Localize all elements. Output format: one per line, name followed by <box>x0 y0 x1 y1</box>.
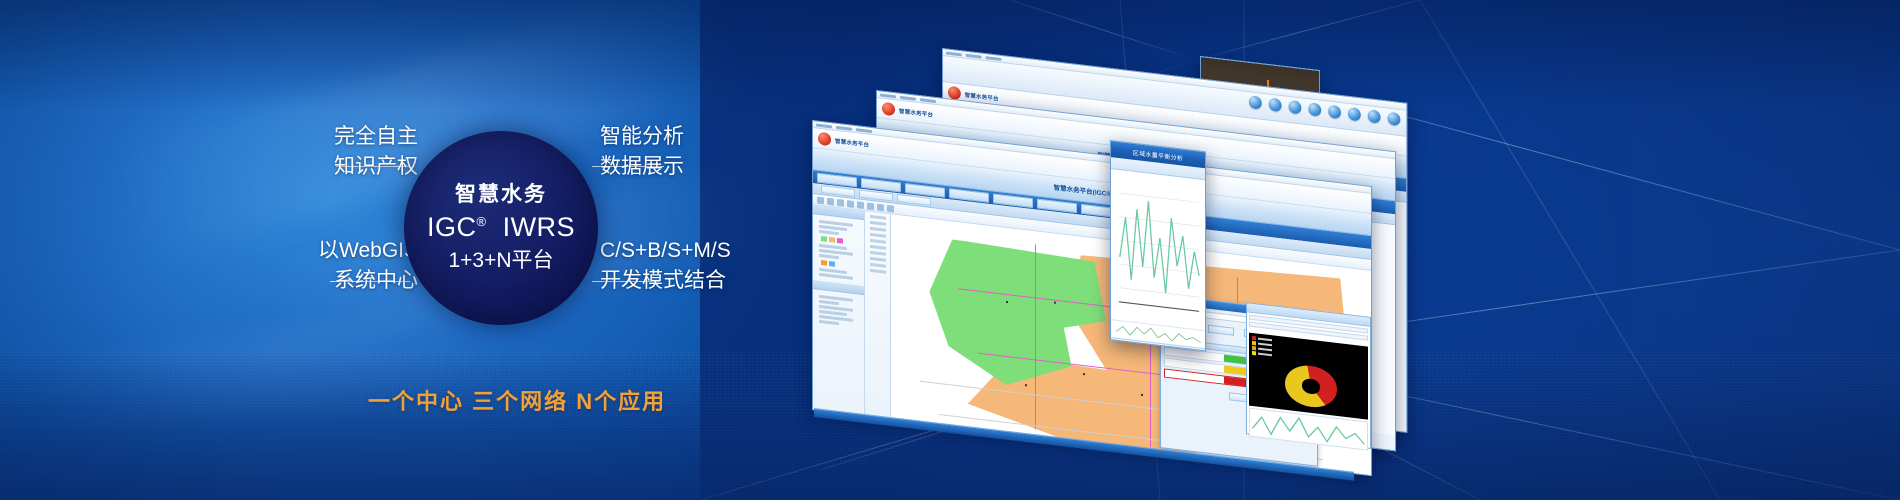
company-logo-icon <box>882 102 895 117</box>
legend-swatch <box>829 261 835 267</box>
donut-legend <box>1252 336 1272 358</box>
banner-stage: 完全自主 知识产权 以WebGIS 系统中心 智能分析 数据展示 C/S+B/S… <box>0 0 1900 500</box>
legend-swatch <box>821 260 827 266</box>
line-chart <box>1111 169 1205 330</box>
layer-item[interactable] <box>819 273 853 280</box>
tool-icon[interactable] <box>870 251 886 256</box>
hub-title: 智慧水务 <box>455 182 547 208</box>
feature-line1: 以WebGIS <box>318 239 418 262</box>
pan-tool-icon[interactable] <box>817 196 824 204</box>
layers-icon[interactable] <box>887 204 894 212</box>
menu-item[interactable] <box>946 51 962 56</box>
ribbon-icon[interactable] <box>1249 95 1262 110</box>
menu-item[interactable] <box>966 53 982 58</box>
tool-icon[interactable] <box>870 245 886 250</box>
feature-line1: 智能分析 <box>600 125 684 148</box>
tool-icon[interactable] <box>870 215 886 220</box>
feature-line2: 数据展示 <box>600 152 684 182</box>
feature-label-top-right: 智能分析 数据展示 <box>600 122 684 182</box>
query-button[interactable] <box>1208 325 1234 336</box>
attribute-row <box>819 320 839 325</box>
donut-ring <box>1285 363 1337 410</box>
hub-platform: 1+3+N平台 <box>448 247 553 274</box>
tool-icon[interactable] <box>870 257 886 262</box>
zoom-in-icon[interactable] <box>827 197 834 205</box>
menu-item[interactable] <box>836 125 852 130</box>
tool-icon[interactable] <box>870 263 886 268</box>
layer-tree[interactable] <box>813 214 864 286</box>
legend-swatch <box>821 236 827 242</box>
hub-circle: 智慧水务 IGC® IWRS 1+3+N平台 <box>404 131 598 325</box>
hub-product-name: IGC <box>427 212 477 242</box>
ribbon-icon[interactable] <box>1289 100 1302 115</box>
menu-item[interactable] <box>920 98 936 103</box>
brand-label: 智慧水务平台 <box>899 106 933 118</box>
layer-item[interactable] <box>819 230 839 235</box>
tool-sidebar[interactable] <box>865 211 891 434</box>
feature-line2: 系统中心 <box>290 266 418 296</box>
feature-label-bottom-right: C/S+B/S+M/S 开发模式结合 <box>600 236 731 296</box>
screenshot-stack: 智慧水务平台(IGC®IWRS) <box>790 0 1490 500</box>
brand-label: 智慧水务平台 <box>835 136 869 148</box>
menu-item[interactable] <box>880 93 896 98</box>
feature-label-bottom-left: 以WebGIS 系统中心 <box>290 236 418 296</box>
menu-item[interactable] <box>900 95 916 100</box>
tool-icon[interactable] <box>870 221 886 226</box>
ribbon-icon[interactable] <box>1269 98 1282 113</box>
tool-icon[interactable] <box>870 269 886 274</box>
feature-line2: 开发模式结合 <box>600 266 731 296</box>
layer-panel[interactable] <box>813 205 865 431</box>
infographic: 完全自主 知识产权 以WebGIS 系统中心 智能分析 数据展示 C/S+B/S… <box>0 0 800 500</box>
legend-swatch <box>837 238 843 244</box>
ribbon-icon[interactable] <box>1348 107 1361 122</box>
zoom-out-icon[interactable] <box>837 198 844 206</box>
chart-window-title: 区域水量平衡分析 <box>1133 147 1183 162</box>
ribbon-icon[interactable] <box>1308 102 1321 117</box>
select-tool-icon[interactable] <box>847 200 854 208</box>
chart-window[interactable]: 区域水量平衡分析 <box>1110 140 1206 351</box>
layer-item[interactable] <box>819 254 839 259</box>
identify-tool-icon[interactable] <box>867 202 874 210</box>
print-icon[interactable] <box>877 203 884 211</box>
registered-mark-icon: ® <box>476 214 486 229</box>
menu-item[interactable] <box>856 128 872 133</box>
ribbon-icon[interactable] <box>1388 112 1401 127</box>
attribute-list <box>813 289 864 333</box>
tool-icon[interactable] <box>870 227 886 232</box>
tool-icon[interactable] <box>870 239 886 244</box>
ribbon-icon[interactable] <box>1368 109 1381 124</box>
water-balance-panel[interactable] <box>1246 302 1371 449</box>
feature-label-top-left: 完全自主 知识产权 <box>302 122 418 182</box>
company-logo-icon <box>818 132 831 147</box>
tool-icon[interactable] <box>870 233 886 238</box>
menu-item[interactable] <box>816 123 832 128</box>
ribbon-icon[interactable] <box>1328 105 1341 120</box>
measure-tool-icon[interactable] <box>857 201 864 209</box>
hub-product: IGC® IWRS <box>427 210 575 245</box>
donut-chart <box>1249 333 1368 420</box>
menu-item[interactable] <box>986 56 1002 61</box>
feature-line2: 知识产权 <box>302 152 418 182</box>
feature-line1: C/S+B/S+M/S <box>600 239 731 262</box>
feature-line1: 完全自主 <box>334 125 418 148</box>
legend-swatch <box>829 237 835 243</box>
hub-product-suffix: IWRS <box>503 212 576 242</box>
tagline: 一个中心 三个网络 N个应用 <box>368 384 768 416</box>
